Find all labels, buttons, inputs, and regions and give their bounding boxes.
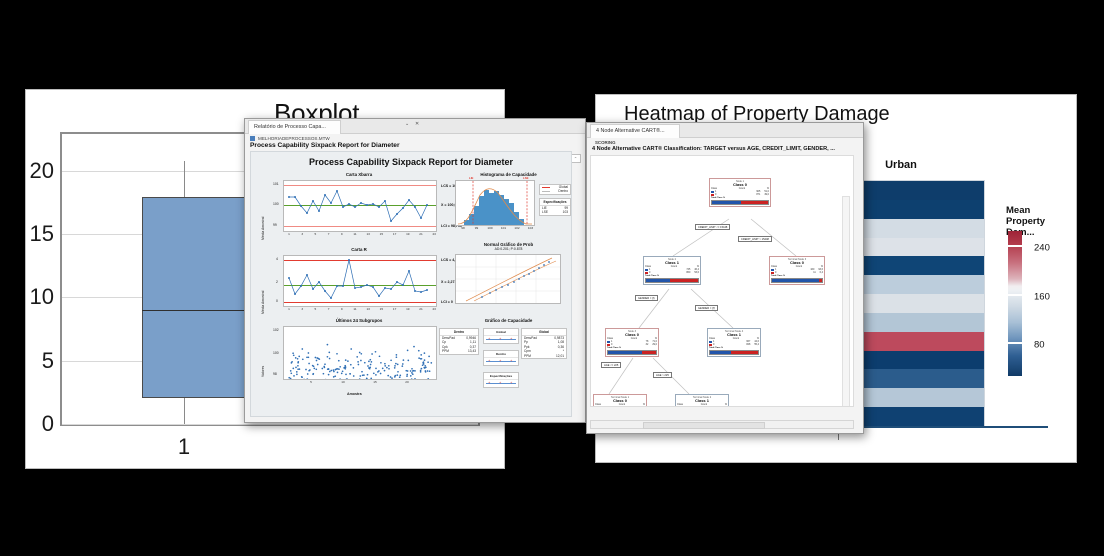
axis-tick: 13 bbox=[366, 307, 369, 311]
axis-tick: 5 bbox=[310, 380, 312, 384]
cart-node: Node 2Class 1ClassCount%174546,4086053,6… bbox=[643, 256, 701, 285]
colorbar-notch-80 bbox=[1008, 342, 1022, 344]
capability-strip: Dentro+++ bbox=[483, 350, 519, 366]
lastsubs-xlabel: Amostra bbox=[347, 392, 362, 396]
minitab-worksheet-bar: MELHORIADEPROCESSOS.MTW bbox=[245, 134, 585, 141]
minitab-report-title: Process Capability Sixpack Report for Di… bbox=[251, 157, 571, 167]
cart-node-bar bbox=[709, 350, 759, 355]
cart-scroll-thumb[interactable] bbox=[643, 422, 765, 429]
capability-strip-scale: +++ bbox=[484, 380, 518, 387]
normplot-plot-area bbox=[455, 254, 561, 304]
chevron-down-icon[interactable]: ⌄ bbox=[405, 121, 409, 127]
capability-strip-label: Especificações bbox=[484, 373, 518, 380]
cart-node: Node 3Class 0ClassCount%17871,003229,0To… bbox=[605, 328, 659, 357]
axis-tick: 7 bbox=[328, 232, 330, 236]
axis-tick: 101 bbox=[501, 226, 506, 230]
table-row: PPM12,01 bbox=[522, 354, 566, 358]
cart-node-row: 082855,4 bbox=[709, 343, 759, 346]
axis-tick: 103 bbox=[528, 226, 533, 230]
rchart-series bbox=[284, 256, 436, 306]
worksheet-name: MELHORIADEPROCESSOS.MTW bbox=[258, 136, 330, 141]
axis-tick: 3 bbox=[301, 307, 303, 311]
cart-split-n3-left: AGE <= 225 bbox=[601, 362, 621, 368]
capability-strip-label: Global bbox=[484, 329, 518, 336]
axis-tick: 19 bbox=[406, 307, 409, 311]
minitab-tabstrip: Relatório de Processo Capa... ⌄ ✕ bbox=[245, 119, 585, 134]
xbar-chart-title: Carta Xbarra bbox=[269, 172, 449, 177]
cart-node: Terminal Node 4Class 1ClassCount%166744,… bbox=[707, 328, 761, 357]
axis-tick: 99 bbox=[475, 226, 478, 230]
window-cart[interactable]: 4 Node Alternative CART®... SCORING 4 No… bbox=[586, 122, 864, 434]
cart-tree-canvas: Node 1Class 0ClassCount%190551,0087149,0… bbox=[590, 155, 854, 407]
axis-tick: 1 bbox=[288, 307, 290, 311]
spec-lse-key: LSE bbox=[542, 210, 548, 214]
xbar-ylabel: Média Amostral bbox=[261, 217, 265, 240]
spec-box-title: Especificações bbox=[540, 199, 570, 206]
within-table-rows: DesvPad0,9946Cp1,11Cpk0,37PPM13,43 bbox=[440, 336, 478, 354]
cart-node-row: 17068,6 bbox=[677, 406, 727, 407]
rchart-lcl-annotation: LCI = 0 bbox=[441, 300, 453, 304]
y-tick-20: 20 bbox=[30, 158, 54, 184]
cart-node-bar bbox=[645, 278, 699, 283]
cart-node-bar bbox=[607, 350, 657, 355]
y-tick-15: 15 bbox=[30, 221, 54, 247]
axis-tick: 17 bbox=[393, 307, 396, 311]
cart-node-row: 03229,0 bbox=[607, 343, 657, 346]
xbar-ytick-101: 101 bbox=[273, 182, 279, 186]
axis-tick: 102 bbox=[514, 226, 519, 230]
rchart-ytick-4: 4 bbox=[276, 257, 278, 261]
axis-tick: 23 bbox=[432, 307, 435, 311]
heatmap-column-label: Urban bbox=[885, 159, 917, 171]
table-cell-key: PPM bbox=[442, 349, 449, 353]
capability-within-table: Dentro DesvPad0,9946Cp1,11Cpk0,37PPM13,4… bbox=[439, 328, 479, 355]
cart-vertical-scrollbar[interactable] bbox=[842, 196, 850, 407]
axis-tick: 17 bbox=[393, 232, 396, 236]
cart-tabstrip: 4 Node Alternative CART®... bbox=[587, 123, 863, 138]
cart-split-n3-right: AGE > 225 bbox=[653, 372, 672, 378]
histogram-lse-label: LSE bbox=[523, 176, 528, 180]
cart-split-n2-right: GENDER = {f}' bbox=[695, 305, 718, 311]
axis-tick: 1 bbox=[288, 232, 290, 236]
axis-tick: 98 bbox=[461, 226, 464, 230]
overall-table-rows: DesvPad0,9873Pp1,08Ppk0,36Cpm*PPM12,01 bbox=[522, 336, 566, 358]
minitab-report-canvas: Process Capability Sixpack Report for Di… bbox=[250, 151, 572, 417]
cart-split-root-right: CREDIT_LIMIT > 15448 bbox=[738, 236, 772, 242]
cart-section-label: SCORING bbox=[587, 138, 863, 145]
lastsubs-scatter bbox=[284, 327, 436, 379]
gridline-0: 0 bbox=[62, 424, 478, 425]
histogram-plot-area bbox=[455, 180, 535, 226]
rchart-ylabel: Média Amostral bbox=[261, 291, 265, 314]
tab-relatorio-processo-capacidade[interactable]: Relatório de Processo Capa... bbox=[248, 120, 341, 134]
y-tick-0: 0 bbox=[42, 411, 54, 437]
axis-tick: 9 bbox=[341, 307, 343, 311]
rchart-ytick-0: 0 bbox=[276, 299, 278, 303]
colorbar-tick-240: 240 bbox=[1034, 243, 1050, 254]
lastsubs-plot-area bbox=[283, 326, 437, 380]
cart-node: Terminal Node 1Class 0ClassCount%1810000… bbox=[593, 394, 647, 407]
x-tick-1: 1 bbox=[178, 434, 190, 460]
axis-tick: 19 bbox=[406, 232, 409, 236]
normplot-subtitle: AD:0.201; P:0.878 bbox=[451, 247, 566, 251]
y-tick-10: 10 bbox=[30, 284, 54, 310]
xbar-ytick-100: 100 bbox=[273, 202, 279, 206]
axis-tick: 3 bbox=[301, 232, 303, 236]
axis-tick: 100 bbox=[487, 226, 492, 230]
cart-node: Terminal Node 3Class 0ClassCount%116093,… bbox=[769, 256, 825, 285]
axis-tick: 9 bbox=[341, 232, 343, 236]
cart-doc-heading: 4 Node Alternative CART® Classification:… bbox=[587, 145, 863, 155]
lastsubs-ytick-100: 100 bbox=[273, 351, 279, 355]
axis-tick: 11 bbox=[353, 307, 356, 311]
table-cell-key: PPM bbox=[524, 354, 531, 358]
lastsubs-title: Últimos 24 Subgrupos bbox=[269, 318, 449, 323]
capability-strip: Especificações+++ bbox=[483, 372, 519, 388]
cart-node-row: 087149,0 bbox=[711, 193, 769, 196]
axis-tick: 13 bbox=[366, 232, 369, 236]
legend-label-dentro: Dentro bbox=[558, 189, 568, 193]
cart-node-row: 18100 bbox=[595, 406, 645, 407]
histogram-legend: Global Dentro bbox=[539, 184, 571, 195]
overall-table-title: Global bbox=[522, 329, 566, 336]
spec-lse-val: 103 bbox=[563, 210, 568, 214]
cart-horizontal-scrollbar[interactable] bbox=[590, 420, 854, 429]
histogram-lie-label: LIE bbox=[469, 176, 473, 180]
colorbar-notch-160 bbox=[1008, 294, 1022, 296]
cart-node-row: 0116,4 bbox=[771, 271, 823, 274]
legend-swatch-global bbox=[542, 187, 550, 188]
table-row: PPM13,43 bbox=[440, 349, 478, 353]
axis-tick: 23 bbox=[432, 232, 435, 236]
cart-split-n2-left: GENDER = {f} bbox=[635, 295, 658, 301]
close-icon[interactable]: ✕ bbox=[415, 121, 419, 127]
axis-tick: 15 bbox=[373, 380, 376, 384]
cart-node-bar bbox=[711, 200, 769, 205]
colorbar-tick-160: 160 bbox=[1034, 292, 1050, 303]
axis-tick: 21 bbox=[419, 232, 422, 236]
lastsubs-ylabel: Valores bbox=[261, 366, 265, 377]
axis-tick: 15 bbox=[380, 232, 383, 236]
capability-strip-label: Dentro bbox=[484, 351, 518, 358]
tab-cart-classification[interactable]: 4 Node Alternative CART®... bbox=[590, 124, 680, 138]
cart-node: Terminal Node 2Class 1ClassCount%17068,6… bbox=[675, 394, 729, 407]
legend-swatch-dentro bbox=[542, 191, 550, 192]
xbar-series bbox=[284, 181, 436, 231]
rchart-plot-area bbox=[283, 255, 437, 307]
boxplot-lower-whisker bbox=[184, 398, 185, 424]
cart-node: Node 1Class 0ClassCount%190551,0087149,0… bbox=[709, 178, 771, 207]
axis-tick: 20 bbox=[405, 380, 408, 384]
cart-split-root-left: CREDIT_LIMIT <= 15448 bbox=[695, 224, 730, 230]
lastsubs-ytick-102: 102 bbox=[273, 328, 279, 332]
heatmap-colorbar: 240 160 80 bbox=[1008, 231, 1022, 376]
axis-tick: 5 bbox=[315, 232, 317, 236]
capability-strip-scale: +++ bbox=[484, 358, 518, 365]
axis-tick: 15 bbox=[380, 307, 383, 311]
capability-title: Gráfico de Capacidade bbox=[451, 318, 566, 323]
within-table-title: Dentro bbox=[440, 329, 478, 336]
xbar-plot-area bbox=[283, 180, 437, 232]
rchart-title: Carta R bbox=[269, 247, 449, 252]
table-cell-value: 12,01 bbox=[556, 354, 564, 358]
boxplot-upper-whisker bbox=[184, 161, 185, 197]
axis-tick: 21 bbox=[419, 307, 422, 311]
legend-title-line1: Mean bbox=[1006, 205, 1074, 216]
capability-strip: Global+++ bbox=[483, 328, 519, 344]
screenshot-root: Boxplot 0 5 10 15 20 bbox=[0, 0, 1104, 556]
worksheet-icon bbox=[250, 136, 255, 141]
normplot-series bbox=[456, 255, 560, 303]
rchart-ytick-2: 2 bbox=[276, 280, 278, 284]
axis-tick: 11 bbox=[353, 232, 356, 236]
capability-overall-table: Global DesvPad0,9873Pp1,08Ppk0,36Cpm*PPM… bbox=[521, 328, 567, 359]
spec-box: Especificações LIE 99 LSE 103 bbox=[539, 198, 571, 216]
xbar-ytick-99: 99 bbox=[273, 223, 277, 227]
capability-strip-scale: +++ bbox=[484, 336, 518, 343]
cart-node-bar bbox=[771, 278, 823, 283]
colorbar-tick-80: 80 bbox=[1034, 340, 1045, 351]
colorbar-notch-240 bbox=[1008, 245, 1022, 247]
axis-tick: 5 bbox=[315, 307, 317, 311]
y-tick-5: 5 bbox=[42, 348, 54, 374]
window-minitab[interactable]: Relatório de Processo Capa... ⌄ ✕ MELHOR… bbox=[244, 118, 586, 423]
axis-tick: 10 bbox=[341, 380, 344, 384]
lastsubs-ytick-98: 98 bbox=[273, 372, 277, 376]
histogram-bars bbox=[456, 181, 534, 225]
axis-tick: 7 bbox=[328, 307, 330, 311]
cart-node-row: 086053,6 bbox=[645, 271, 699, 274]
table-cell-value: 13,43 bbox=[468, 349, 476, 353]
colorbar-gradient bbox=[1008, 231, 1022, 376]
